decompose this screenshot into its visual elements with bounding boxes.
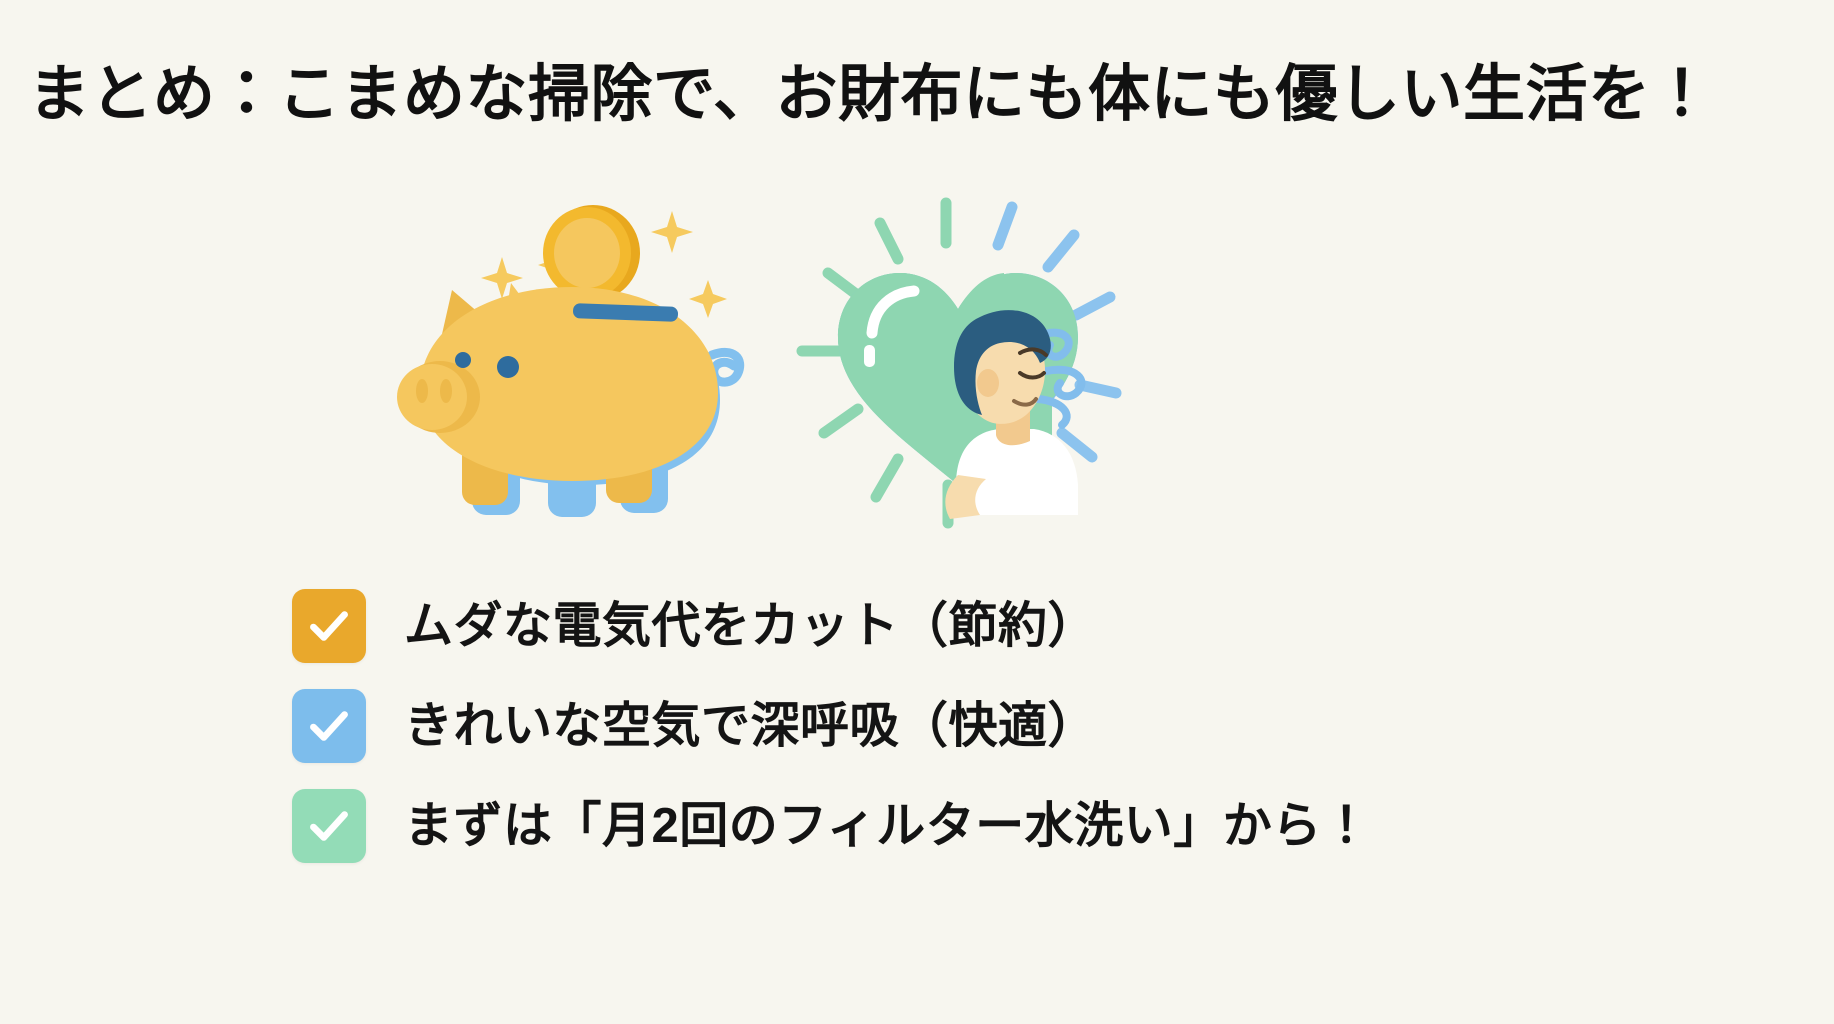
illustration-band [380, 185, 1220, 565]
check-icon [304, 601, 354, 651]
pig-eye-left [455, 352, 471, 368]
checklist-item-saving[interactable]: ムダな電気代をカット（節約） [292, 578, 1592, 674]
checkbox-comfort[interactable] [292, 689, 366, 763]
piggy-bank-illustration [397, 205, 740, 517]
checklist-label-saving: ムダな電気代をカット（節約） [404, 602, 1097, 651]
check-icon [304, 701, 354, 751]
pig-eye-right [497, 356, 519, 378]
page-title: まとめ：こまめな掃除で、お財布にも体にも優しい生活を！ [28, 58, 1808, 131]
checklist-label-action: まずは「月2回のフィルター水洗い」から！ [404, 802, 1371, 851]
checklist-label-comfort: きれいな空気で深呼吸（快適） [404, 702, 1097, 751]
heart-breathing-illustration [802, 203, 1116, 523]
summary-checklist: ムダな電気代をカット（節約） きれいな空気で深呼吸（快適） まずは「月2回のフィ… [292, 578, 1592, 878]
checkbox-action[interactable] [292, 789, 366, 863]
summary-slide: まとめ：こまめな掃除で、お財布にも体にも優しい生活を！ [0, 0, 1834, 1024]
checklist-item-comfort[interactable]: きれいな空気で深呼吸（快適） [292, 678, 1592, 774]
checklist-item-action[interactable]: まずは「月2回のフィルター水洗い」から！ [292, 778, 1592, 874]
coin-icon [543, 205, 640, 301]
checkbox-saving[interactable] [292, 589, 366, 663]
check-icon [304, 801, 354, 851]
